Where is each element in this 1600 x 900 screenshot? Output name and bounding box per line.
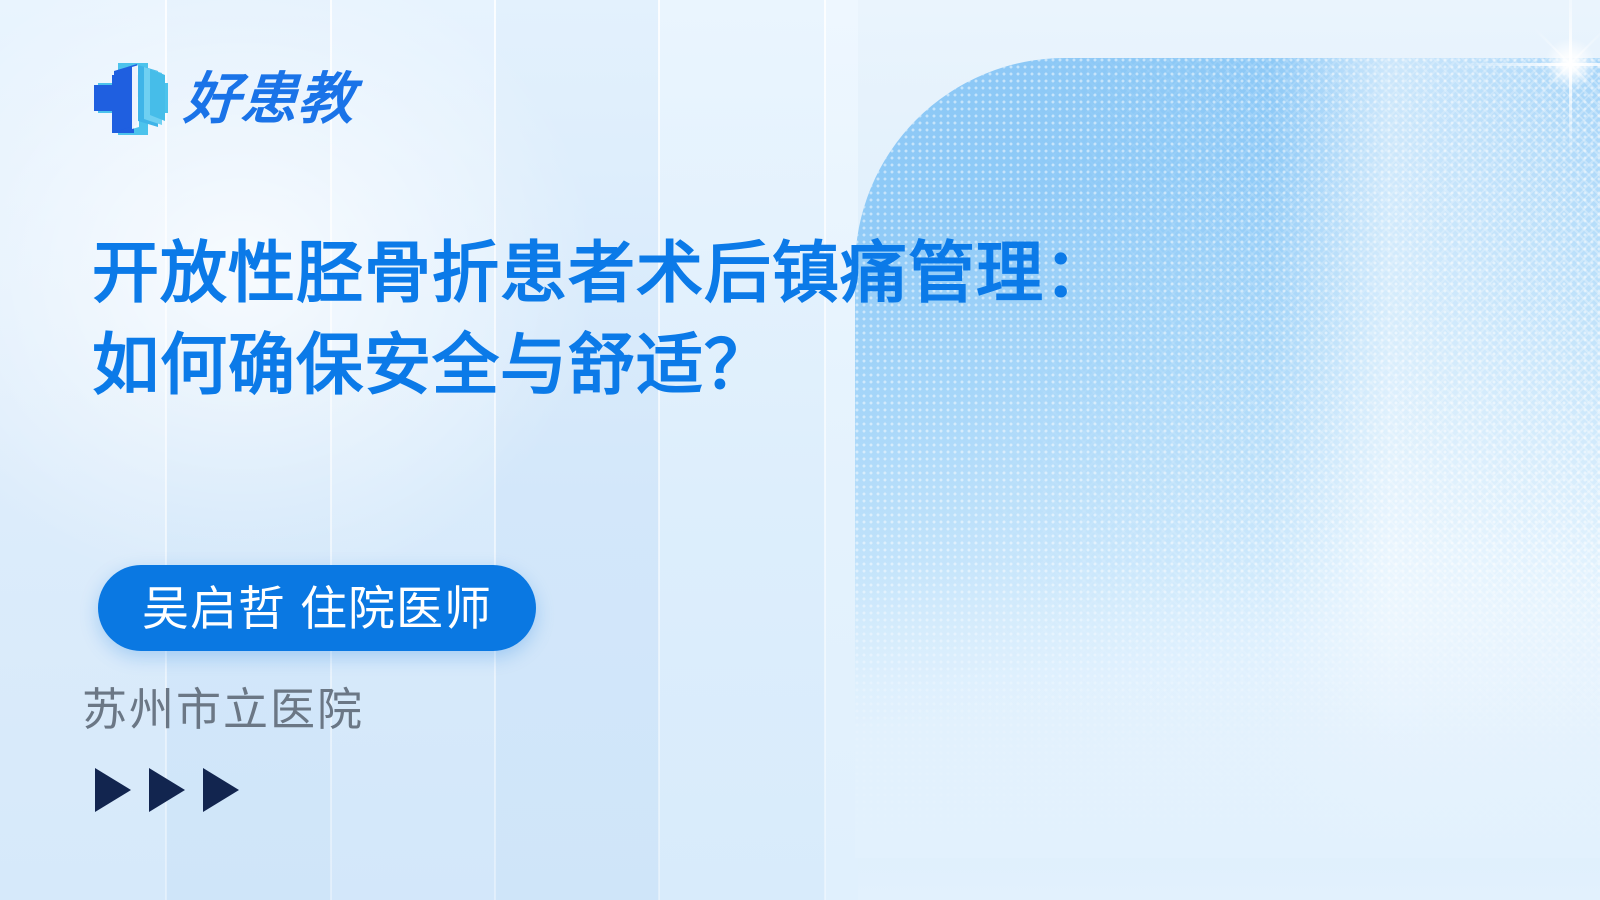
affiliation-hospital: 苏州市立医院 bbox=[82, 683, 364, 737]
play-triangle-icon bbox=[203, 768, 239, 812]
title-line-2: 如何确保安全与舒适？ bbox=[92, 320, 1232, 412]
slide-cover: 好患教 开放性胫骨折患者术后镇痛管理： 如何确保安全与舒适？ 吴启哲 住院医师 … bbox=[0, 0, 1600, 900]
rounded-feature-panel bbox=[855, 58, 1600, 858]
speaker-badge-label: 吴启哲 住院医师 bbox=[142, 585, 492, 632]
page-title: 开放性胫骨折患者术后镇痛管理： 如何确保安全与舒适？ bbox=[92, 228, 1232, 413]
speaker-badge: 吴启哲 住院医师 bbox=[98, 565, 536, 651]
play-arrows-decoration bbox=[95, 768, 239, 812]
medical-cross-book-icon bbox=[92, 55, 170, 143]
play-triangle-icon bbox=[95, 768, 131, 812]
brand-name: 好患教 bbox=[183, 71, 357, 127]
title-line-1: 开放性胫骨折患者术后镇痛管理： bbox=[92, 228, 1232, 320]
brand-logo[interactable]: 好患教 bbox=[92, 55, 355, 143]
panel-bottom-fade bbox=[855, 558, 1600, 858]
play-triangle-icon bbox=[149, 768, 185, 812]
